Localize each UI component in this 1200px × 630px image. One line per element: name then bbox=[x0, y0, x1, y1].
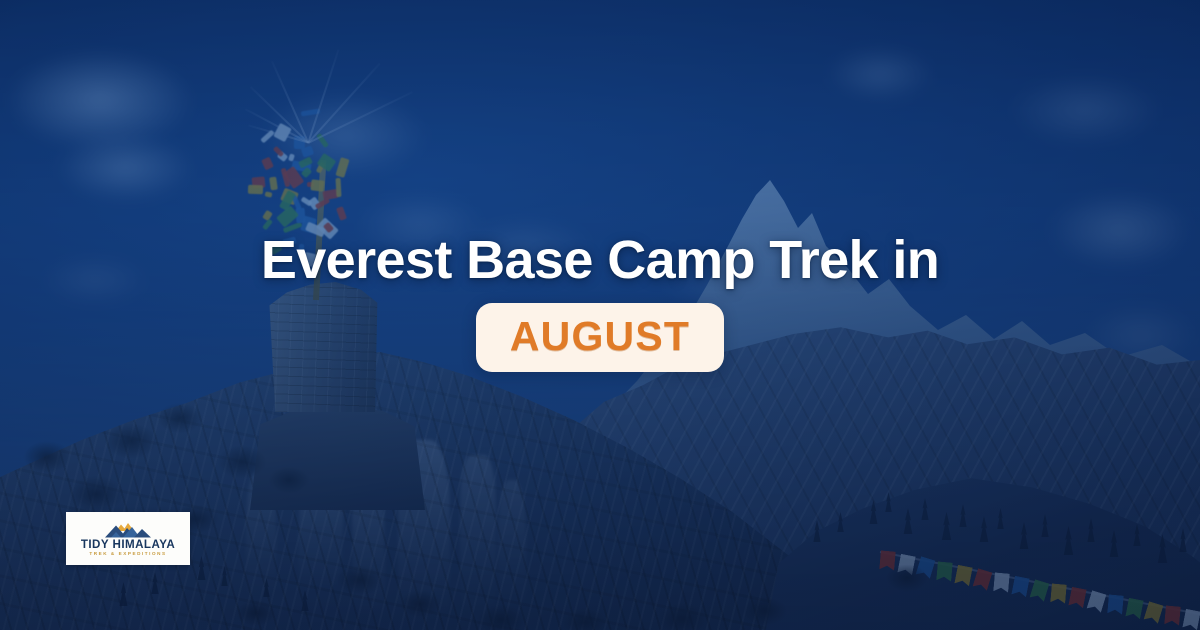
mountain-peaks-icon bbox=[101, 521, 155, 538]
logo-tagline: TREK & EXPEDITIONS bbox=[89, 552, 166, 557]
month-badge: AUGUST bbox=[476, 303, 724, 372]
logo-name: TIDY HIMALAYA bbox=[81, 539, 175, 551]
month-badge-label: AUGUST bbox=[510, 316, 690, 357]
hero-banner: Everest Base Camp Trek in AUGUST TIDY HI… bbox=[0, 0, 1200, 630]
page-title: Everest Base Camp Trek in bbox=[261, 232, 939, 289]
logo[interactable]: TIDY HIMALAYA TREK & EXPEDITIONS bbox=[66, 512, 190, 565]
